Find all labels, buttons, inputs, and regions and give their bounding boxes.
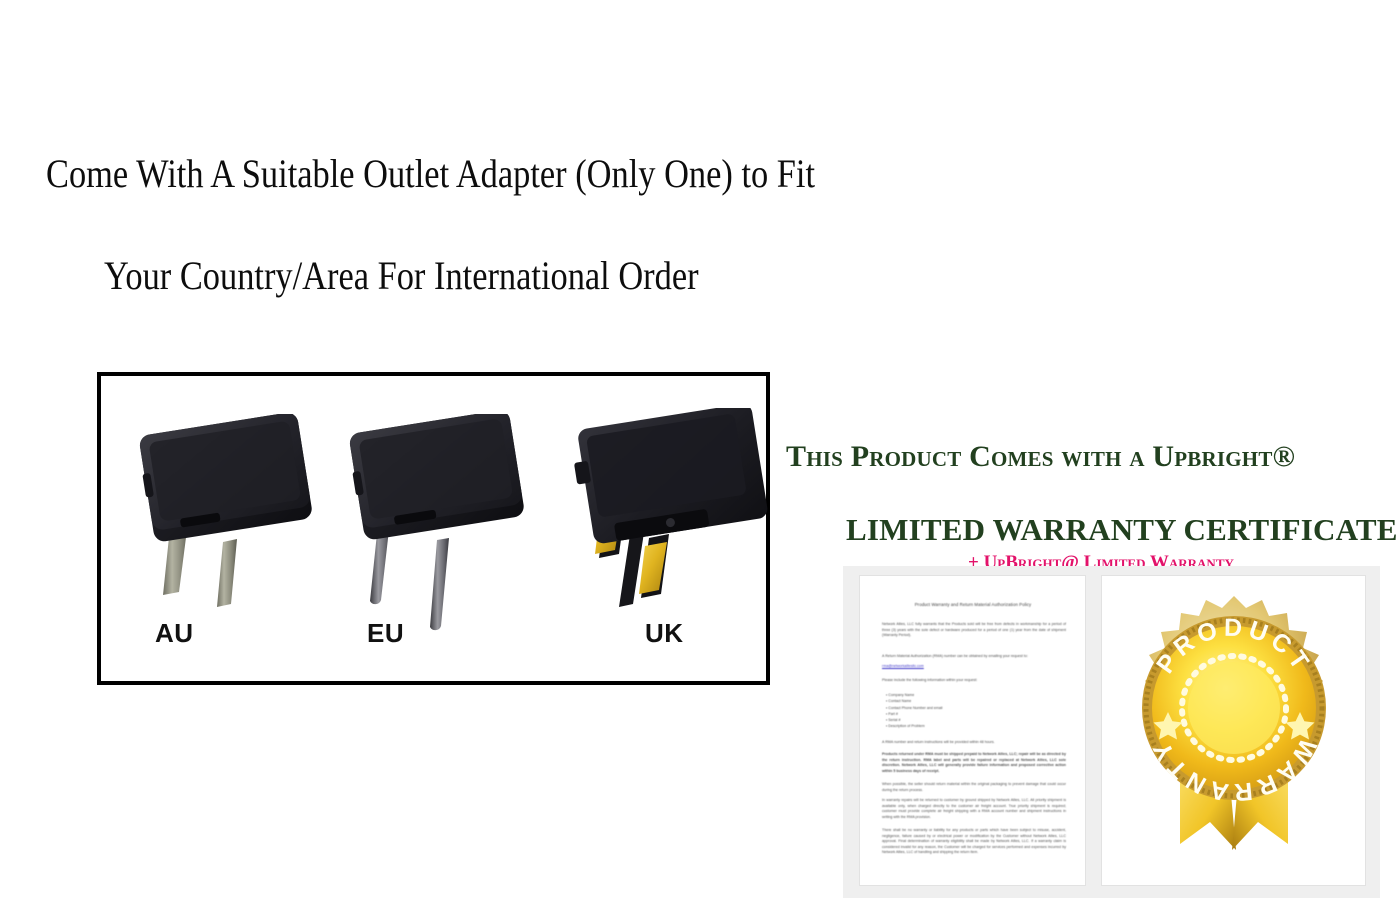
plug-uk	[571, 408, 781, 648]
plug-eu	[333, 414, 533, 644]
list-item: Contact Phone Number and email	[886, 705, 942, 711]
upbright-heading-line-2: LIMITED WARRANTY CERTIFICATE	[846, 512, 1398, 548]
plug-adapter-box: AU	[97, 372, 770, 685]
document-paragraph-1: Network Allies, LLC fully warrants that …	[882, 622, 1066, 639]
plug-label-eu: EU	[367, 618, 404, 649]
plug-au-icon	[123, 414, 323, 644]
plug-label-au: AU	[155, 618, 194, 649]
list-item: Description of Problem	[886, 723, 942, 729]
plug-au	[123, 414, 323, 644]
document-paragraph-3: Please include the following information…	[882, 678, 1066, 684]
plug-eu-icon	[333, 414, 533, 644]
certificate-panel: Product Warranty and Return Material Aut…	[843, 566, 1380, 898]
headline-line-2: Your Country/Area For International Orde…	[104, 252, 699, 299]
document-title: Product Warranty and Return Material Aut…	[882, 602, 1064, 607]
document-footer-3: When possible, the seller should return …	[882, 782, 1066, 793]
document-footer-5: There shall be no warranty or liability …	[882, 828, 1066, 856]
product-warranty-seal-icon: PRODUCT WARRANTY	[1110, 582, 1358, 874]
document-paragraph-2: A Return Material Authorization (RMA) nu…	[882, 654, 1066, 660]
plug-label-uk: UK	[645, 618, 684, 649]
warranty-seal-page: PRODUCT WARRANTY	[1102, 576, 1365, 885]
document-footer-2: Products returned under RMA must be ship…	[882, 752, 1066, 774]
headline-line-1: Come With A Suitable Outlet Adapter (Onl…	[46, 150, 815, 197]
document-footer-1: A RMA number and return instructions wil…	[882, 740, 1066, 746]
document-footer-4: In warranty repairs will be returned to …	[882, 798, 1066, 820]
document-request-list: Company Name Contact Name Contact Phone …	[886, 692, 942, 730]
plug-uk-icon	[571, 408, 781, 648]
page-canvas: Come With A Suitable Outlet Adapter (Onl…	[0, 0, 1400, 905]
document-rma-email-link[interactable]: rma@networkalliesllc.com	[882, 664, 1066, 670]
upbright-heading-line-1: This Product Comes with a Upbright®	[786, 440, 1295, 474]
warranty-document-page: Product Warranty and Return Material Aut…	[860, 576, 1085, 885]
